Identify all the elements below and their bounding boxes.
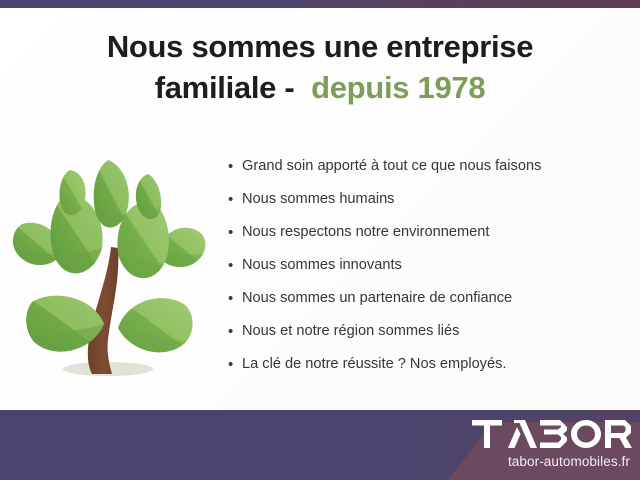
bullet-icon: • — [228, 315, 242, 348]
tabor-wordmark — [472, 419, 632, 449]
brand-tagline: tabor-automobiles.fr — [508, 454, 630, 469]
leaf-top-left-small — [59, 170, 85, 215]
list-item-label: Grand soin apporté à tout ce que nous fa… — [242, 150, 541, 183]
headline-line-1: Nous sommes une entreprise — [0, 26, 640, 67]
headline-plain: familiale — [155, 70, 276, 105]
top-accent-bar — [0, 0, 640, 8]
page-title: Nous sommes une entreprise familiale - d… — [0, 26, 640, 108]
bullet-icon: • — [228, 348, 242, 381]
headline-gap — [294, 70, 311, 105]
bullet-icon: • — [228, 183, 242, 216]
list-item-label: La clé de notre réussite ? Nos employés. — [242, 348, 506, 381]
headline-dash-glyph: - — [284, 70, 294, 105]
list-item: • Grand soin apporté à tout ce que nous … — [228, 150, 628, 183]
list-item-label: Nous sommes humains — [242, 183, 394, 216]
list-item: • Nous sommes un partenaire de confiance — [228, 282, 628, 315]
list-item: • Nous sommes innovants — [228, 249, 628, 282]
list-item-label: Nous sommes un partenaire de confiance — [242, 282, 512, 315]
tree-illustration — [8, 152, 208, 384]
bullet-icon: • — [228, 249, 242, 282]
leaf-top-center — [94, 160, 129, 228]
benefits-list: • Grand soin apporté à tout ce que nous … — [228, 150, 628, 381]
list-item-label: Nous sommes innovants — [242, 249, 402, 282]
headline-line-2: familiale - depuis 1978 — [0, 67, 640, 108]
bullet-icon: • — [228, 282, 242, 315]
headline-accent: depuis 1978 — [311, 70, 485, 105]
list-item: • Nous sommes humains — [228, 183, 628, 216]
leaf-lower-right — [118, 298, 193, 352]
bullet-icon: • — [228, 216, 242, 249]
list-item-label: Nous et notre région sommes liés — [242, 315, 459, 348]
bullet-icon: • — [228, 150, 242, 183]
list-item-label: Nous respectons notre environnement — [242, 216, 489, 249]
slide-canvas: Nous sommes une entreprise familiale - d… — [0, 0, 640, 480]
list-item: • Nous et notre région sommes liés — [228, 315, 628, 348]
list-item: • Nous respectons notre environnement — [228, 216, 628, 249]
list-item: • La clé de notre réussite ? Nos employé… — [228, 348, 628, 381]
